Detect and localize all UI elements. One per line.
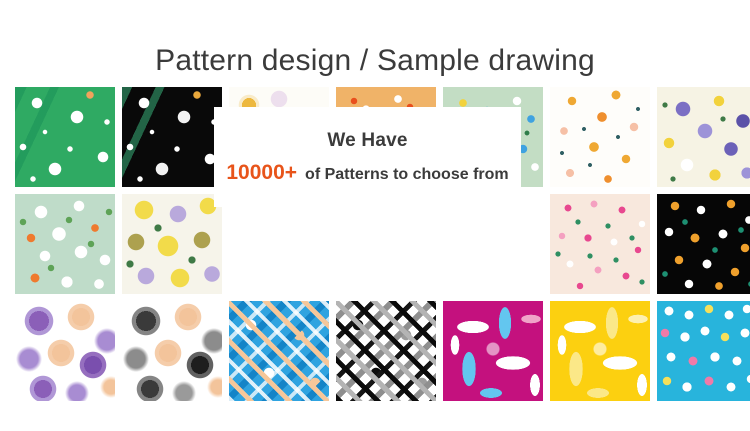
pattern-artwork bbox=[15, 87, 115, 187]
pattern-count: 10000+ bbox=[226, 161, 297, 185]
pattern-artwork bbox=[15, 301, 115, 401]
pattern-artwork bbox=[229, 301, 329, 401]
pattern-artwork bbox=[657, 194, 750, 294]
promo-suffix-text: of Patterns to choose from bbox=[305, 166, 509, 184]
pattern-swatch-yellow-damask-swirl[interactable] bbox=[550, 301, 650, 401]
pattern-swatch-blue-ikat-geometric[interactable] bbox=[229, 301, 329, 401]
pattern-artwork bbox=[550, 87, 650, 187]
pattern-artwork bbox=[15, 194, 115, 294]
pattern-artwork bbox=[657, 301, 750, 401]
pattern-swatch-blush-pink-ditsy[interactable] bbox=[550, 194, 650, 294]
pattern-artwork bbox=[550, 194, 650, 294]
pattern-swatch-white-orange-ditsy[interactable] bbox=[550, 87, 650, 187]
pattern-swatch-magenta-damask-swirl[interactable] bbox=[443, 301, 543, 401]
pattern-swatch-turquoise-ditsy-daisy[interactable] bbox=[657, 301, 750, 401]
pattern-artwork bbox=[657, 87, 750, 187]
pattern-artwork bbox=[122, 301, 222, 401]
promo-headline: We Have bbox=[327, 130, 407, 152]
page-title: Pattern design / Sample drawing bbox=[0, 44, 750, 78]
pattern-swatch-purple-peach-daisy[interactable] bbox=[15, 301, 115, 401]
pattern-swatch-purple-pansy-floral[interactable] bbox=[657, 87, 750, 187]
promo-callout: We Have 10000+ of Patterns to choose fro… bbox=[214, 107, 521, 207]
pattern-artwork bbox=[550, 301, 650, 401]
pattern-swatch-mint-white-rose[interactable] bbox=[15, 194, 115, 294]
pattern-swatch-black-orange-floral[interactable] bbox=[657, 194, 750, 294]
pattern-artwork bbox=[122, 194, 222, 294]
pattern-artwork bbox=[336, 301, 436, 401]
pattern-swatch-grey-peach-daisy[interactable] bbox=[122, 301, 222, 401]
pattern-swatch-yellow-lilac-painterly[interactable] bbox=[122, 194, 222, 294]
pattern-artwork bbox=[122, 87, 222, 187]
pattern-swatch-black-daisy-floral[interactable] bbox=[122, 87, 222, 187]
pattern-swatch-green-daisy-floral[interactable] bbox=[15, 87, 115, 187]
pattern-artwork bbox=[443, 301, 543, 401]
promo-subline: 10000+ of Patterns to choose from bbox=[226, 161, 508, 185]
pattern-swatch-black-grey-ikat[interactable] bbox=[336, 301, 436, 401]
